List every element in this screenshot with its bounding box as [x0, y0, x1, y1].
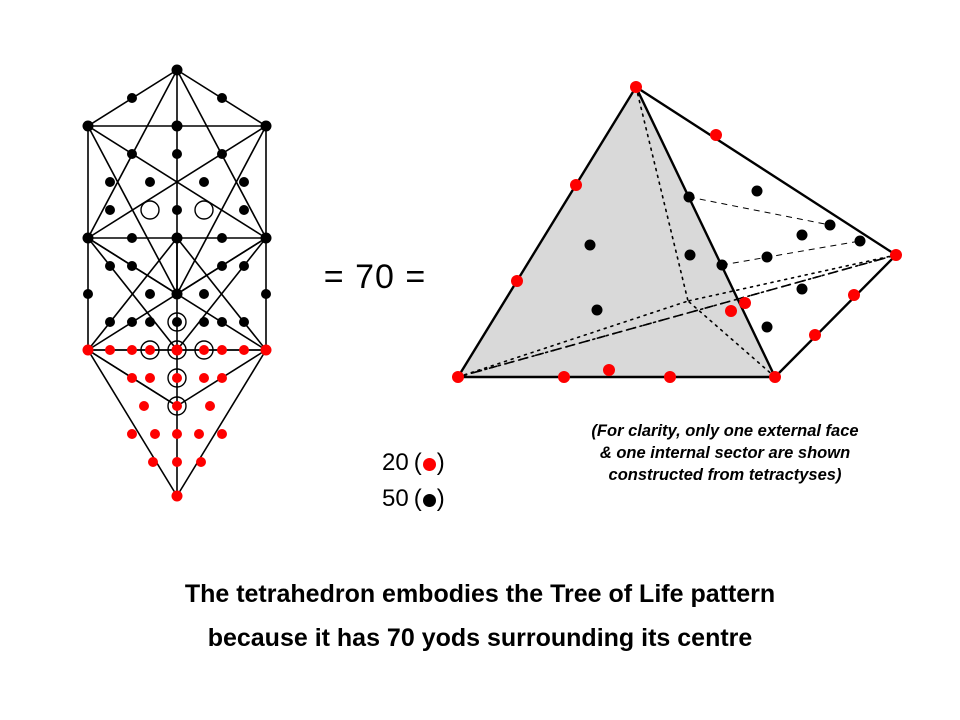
- red-dot-icon: [423, 458, 436, 471]
- legend-count-red: 20: [382, 445, 409, 481]
- tetrahedron-diagram: [430, 65, 930, 405]
- caption-line-1: The tetrahedron embodies the Tree of Lif…: [60, 572, 900, 616]
- legend-item-red: 20 ( ): [382, 445, 502, 481]
- clarity-note: (For clarity, only one external face & o…: [530, 420, 920, 486]
- clarity-note-line-3: constructed from tetractyses): [530, 464, 920, 486]
- clarity-note-line-1: (For clarity, only one external face: [530, 420, 920, 442]
- caption-line-2: because it has 70 yods surrounding its c…: [60, 616, 900, 660]
- diagram-canvas: = 70 = 20 ( ) 50 ( ) (For clarity, only …: [0, 0, 960, 720]
- legend: 20 ( ) 50 ( ): [382, 445, 502, 517]
- legend-item-black: 50 ( ): [382, 481, 502, 517]
- tree-of-life-tetractys-diagram: [40, 50, 330, 520]
- legend-count-black: 50: [382, 481, 409, 517]
- legend-open-paren-black: (: [414, 481, 422, 517]
- legend-close-paren-red: ): [437, 445, 445, 481]
- caption: The tetrahedron embodies the Tree of Lif…: [60, 572, 900, 660]
- legend-open-paren-red: (: [414, 445, 422, 481]
- clarity-note-line-2: & one internal sector are shown: [530, 442, 920, 464]
- black-dot-icon: [423, 494, 436, 507]
- equals-seventy-label: = 70 =: [305, 258, 445, 297]
- legend-close-paren-black: ): [437, 481, 445, 517]
